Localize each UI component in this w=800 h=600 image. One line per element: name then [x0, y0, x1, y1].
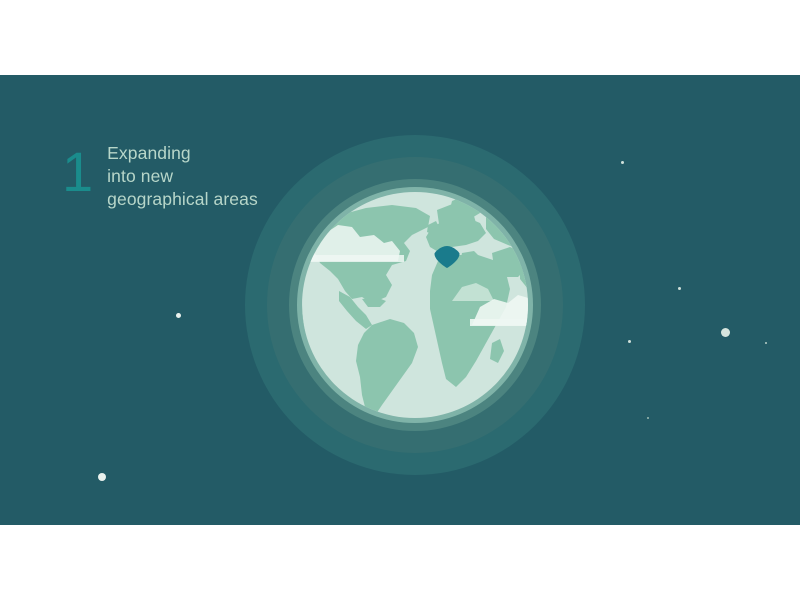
slide-root: 1 Expanding into new geographical areas: [0, 0, 800, 600]
letterbox-bottom: [0, 525, 800, 600]
slide-stage: 1 Expanding into new geographical areas: [0, 75, 800, 525]
star-dot: [621, 161, 624, 164]
star-dot: [176, 313, 181, 318]
star-dot: [98, 473, 106, 481]
star-dot: [721, 328, 730, 337]
letterbox-top: [0, 0, 800, 75]
step-number: 1: [62, 145, 93, 199]
caption-block: 1 Expanding into new geographical areas: [62, 142, 258, 211]
page-title: Expanding into new geographical areas: [107, 142, 258, 211]
star-dot: [628, 340, 631, 343]
star-dot: [678, 287, 681, 290]
